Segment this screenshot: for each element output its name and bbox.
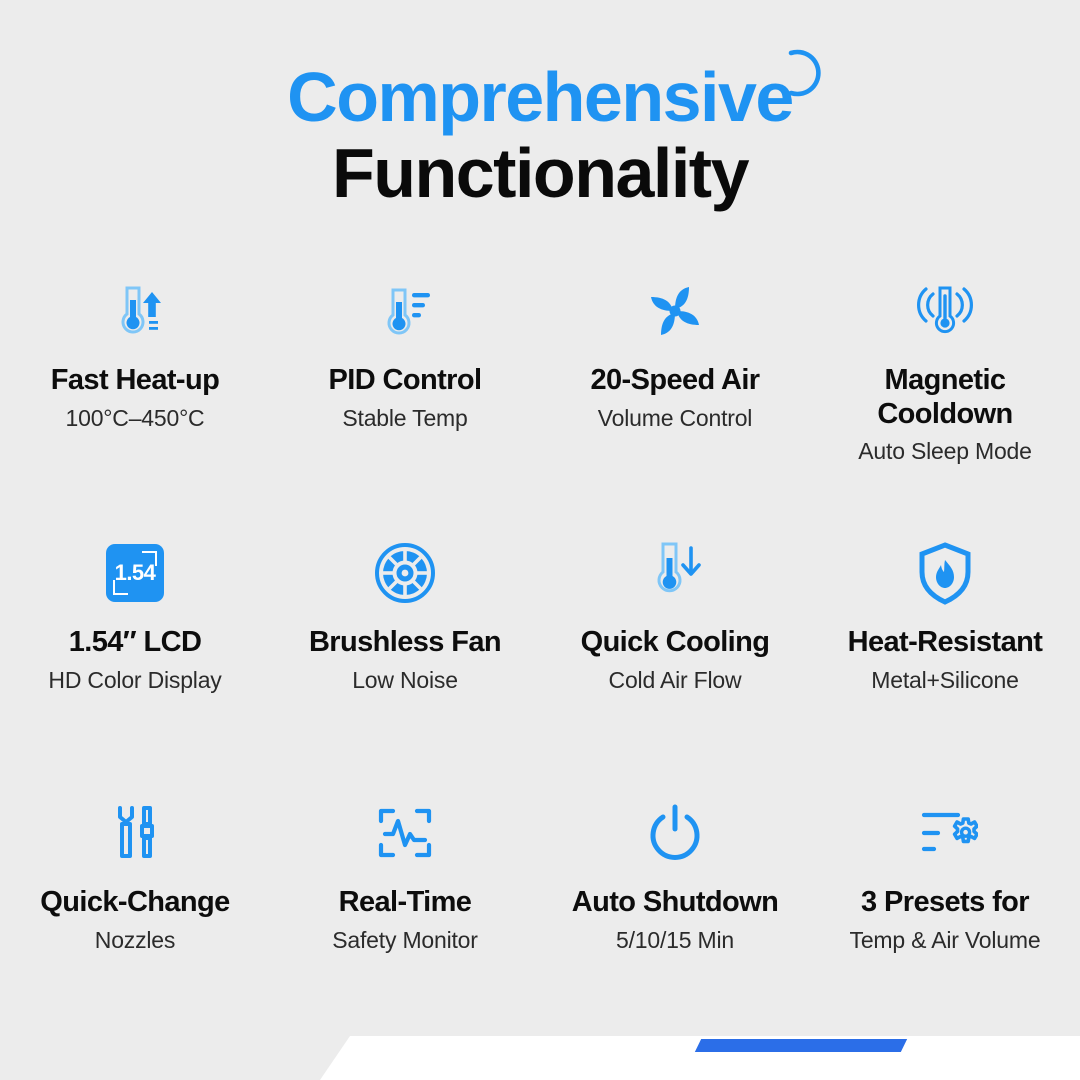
power-button-icon [546,794,804,872]
feature-item-20-speed-air: 20-Speed Air Volume Control [540,272,810,432]
lcd-corner-top-right [142,551,157,566]
feature-subtitle: Safety Monitor [276,927,534,955]
feature-title: 1.54″ LCD [6,626,264,660]
feature-item-pid-control: PID Control Stable Temp [270,272,540,432]
feature-title: Quick Cooling [546,626,804,660]
feature-title: 20-Speed Air [546,364,804,398]
feature-subtitle: Nozzles [6,927,264,955]
feature-subtitle: 100°C–450°C [6,405,264,433]
lcd-screen-icon: 1.54 [6,534,264,612]
feature-row-1: Fast Heat-up 100°C–450°C PID Control Sta… [0,272,1080,534]
page-header: Comprehensive Functionality [0,0,1080,210]
feature-title: 3 Presets for [816,886,1074,920]
feature-subtitle: Volume Control [546,405,804,433]
fan-blades-icon [546,272,804,350]
feature-row-3: Quick-Change Nozzles Real-Time Safety Mo… [0,794,1080,1034]
feature-row-2: 1.54 1.54″ LCD HD Color Display [0,534,1080,794]
feature-subtitle: Stable Temp [276,405,534,433]
feature-subtitle: Low Noise [276,667,534,695]
feature-title: Heat-Resistant [816,626,1074,660]
feature-title: Fast Heat-up [6,364,264,398]
sliders-gear-icon [816,794,1074,872]
feature-title: Brushless Fan [276,626,534,660]
feature-title: Quick-Change [6,886,264,920]
feature-item-fast-heat-up: Fast Heat-up 100°C–450°C [0,272,270,432]
feature-subtitle: Cold Air Flow [546,667,804,695]
lcd-corner-bottom-left [113,580,128,595]
feature-item-lcd-display: 1.54 1.54″ LCD HD Color Display [0,534,270,694]
feature-title: PID Control [276,364,534,398]
feature-item-brushless-fan: Brushless Fan Low Noise [270,534,540,694]
turbine-wheel-icon [276,534,534,612]
page-title-line-1: Comprehensive [287,62,793,132]
page-title-primary-text: Comprehensive [287,58,793,136]
feature-item-real-time-monitor: Real-Time Safety Monitor [270,794,540,954]
feature-subtitle: Temp & Air Volume [816,927,1074,955]
feature-item-auto-shutdown: Auto Shutdown 5/10/15 Min [540,794,810,954]
feature-subtitle: HD Color Display [6,667,264,695]
feature-subtitle: Auto Sleep Mode [816,438,1074,466]
arc-swoosh-icon [777,46,831,100]
corner-blue-stripe [695,1039,907,1052]
pulse-monitor-frame-icon [276,794,534,872]
thermometer-signal-waves-icon [816,272,1074,350]
feature-item-heat-resistant: Heat-Resistant Metal+Silicone [810,534,1080,694]
thermometer-levels-icon [276,272,534,350]
shield-flame-icon [816,534,1074,612]
feature-item-presets: 3 Presets for Temp & Air Volume [810,794,1080,954]
thermometer-up-arrow-icon [6,272,264,350]
feature-grid: Fast Heat-up 100°C–450°C PID Control Sta… [0,272,1080,1034]
feature-subtitle: 5/10/15 Min [546,927,804,955]
feature-subtitle: Metal+Silicone [816,667,1074,695]
page-title-line-2: Functionality [0,136,1080,210]
feature-item-magnetic-cooldown: Magnetic Cooldown Auto Sleep Mode [810,272,1080,466]
thermometer-down-arrow-icon [546,534,804,612]
wrench-screwdriver-icon [6,794,264,872]
feature-title: Magnetic Cooldown [816,364,1074,431]
feature-title: Auto Shutdown [546,886,804,920]
feature-item-quick-cooling: Quick Cooling Cold Air Flow [540,534,810,694]
feature-title: Real-Time [276,886,534,920]
feature-item-quick-change-nozzles: Quick-Change Nozzles [0,794,270,954]
